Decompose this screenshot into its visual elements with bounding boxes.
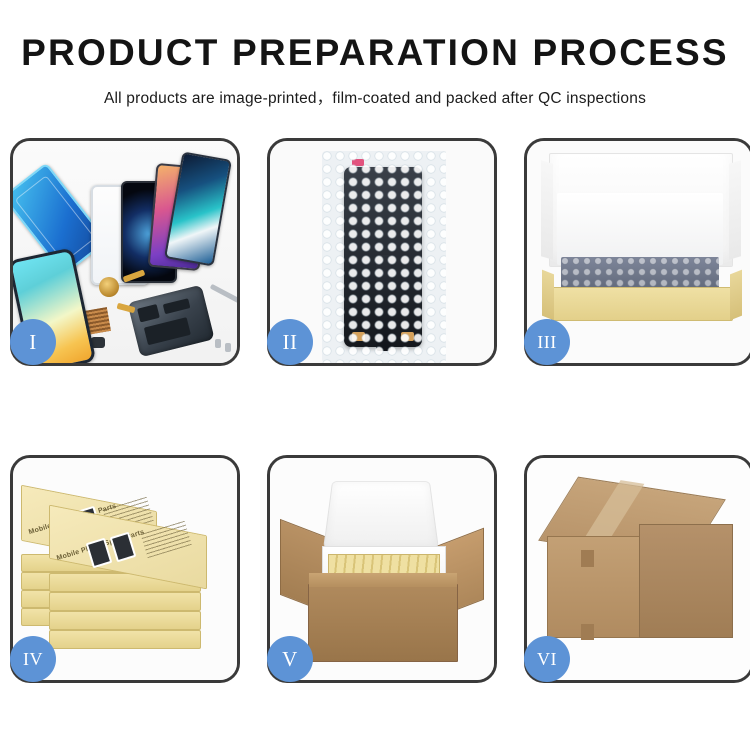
yellow-box-tray [551, 287, 733, 321]
step-panel-1[interactable]: I [10, 138, 240, 366]
step-panel-5[interactable]: V [267, 455, 497, 683]
foam-box-lid [323, 481, 439, 548]
step-panel-6[interactable]: VI [524, 455, 750, 683]
part-screw-1 [215, 339, 221, 348]
page-subtitle: All products are image-printed，film-coat… [0, 86, 750, 108]
carton-front-face [547, 536, 641, 638]
bubble-texture [322, 151, 446, 363]
carton-seam-upper [581, 550, 594, 567]
phone-back-housing [127, 285, 214, 358]
outer-carton-body [308, 584, 458, 662]
bubble-wrap-bag [322, 151, 446, 363]
step-panel-2[interactable]: II [267, 138, 497, 366]
step-panel-4[interactable]: Mobile Phone Spare Parts Mobile Phone Sp… [10, 455, 240, 683]
step-badge-1: I [10, 319, 56, 365]
page-header: PRODUCT PREPARATION PROCESS All products… [0, 0, 750, 108]
step-panel-3[interactable]: III [524, 138, 750, 366]
step-badge-4: IV [10, 636, 56, 682]
step-badge-6: VI [524, 636, 570, 682]
part-screwdriver [210, 284, 237, 303]
step-badge-5: V [267, 636, 313, 682]
process-steps-grid: I II III [10, 138, 740, 683]
stacked-box-right-4 [49, 611, 201, 630]
step-badge-3: III [524, 319, 570, 365]
foam-sheet [557, 193, 723, 265]
carton-side-face [639, 524, 733, 638]
carton-seam-lower [581, 624, 594, 640]
stacked-box-right-5 [49, 630, 201, 649]
speaker-part [99, 277, 119, 297]
stacked-box-right-3 [49, 592, 201, 611]
part-screw-2 [225, 343, 231, 352]
page-title: PRODUCT PREPARATION PROCESS [0, 34, 750, 73]
step-badge-2: II [267, 319, 313, 365]
